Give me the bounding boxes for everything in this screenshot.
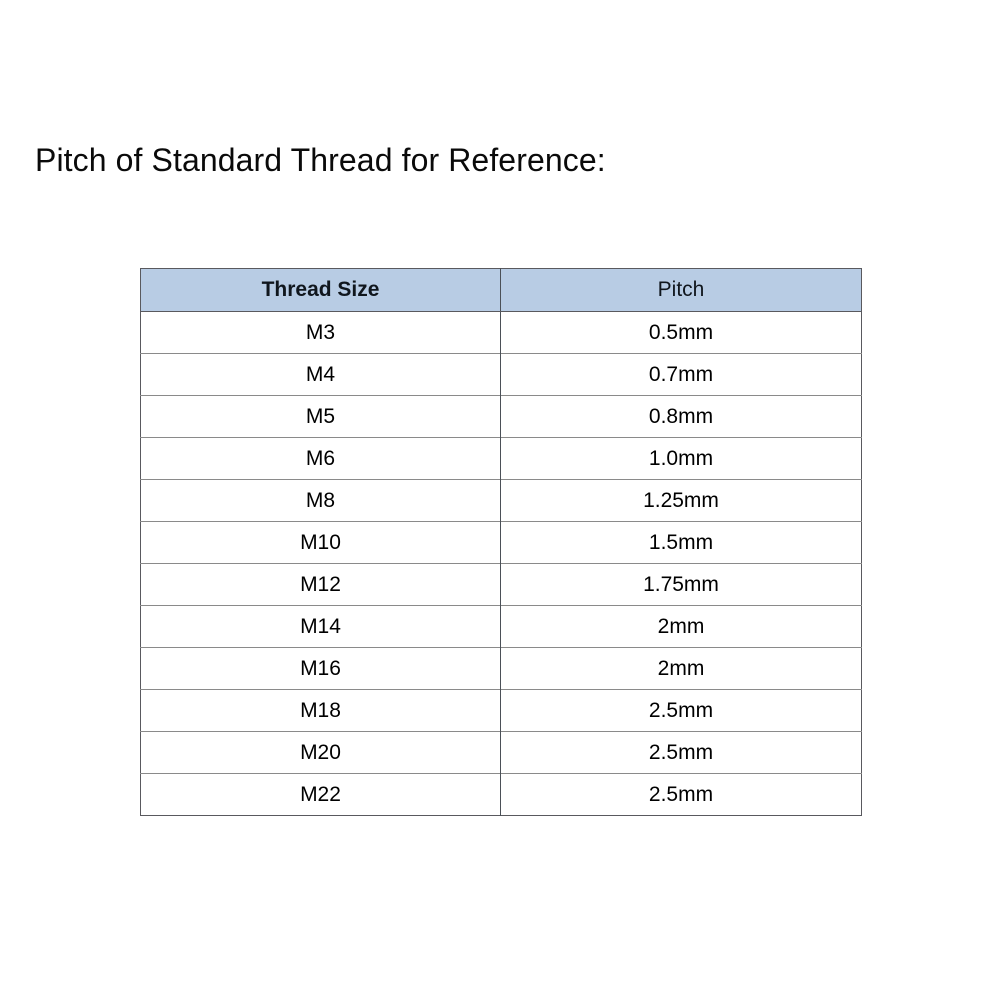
table-row: M202.5mm [141,732,862,774]
table-row: M81.25mm [141,480,862,522]
document-page: Pitch of Standard Thread for Reference: … [0,0,1000,1000]
table-row: M40.7mm [141,354,862,396]
cell-thread-size: M18 [141,690,501,732]
cell-pitch: 2.5mm [501,690,862,732]
cell-pitch: 1.0mm [501,438,862,480]
column-header-pitch: Pitch [501,269,862,312]
table-row: M50.8mm [141,396,862,438]
cell-thread-size: M4 [141,354,501,396]
cell-thread-size: M6 [141,438,501,480]
cell-pitch: 0.7mm [501,354,862,396]
cell-pitch: 2.5mm [501,732,862,774]
table-header: Thread Size Pitch [141,269,862,312]
cell-pitch: 2mm [501,606,862,648]
cell-pitch: 0.5mm [501,312,862,354]
cell-pitch: 2mm [501,648,862,690]
table-row: M121.75mm [141,564,862,606]
cell-thread-size: M16 [141,648,501,690]
cell-thread-size: M3 [141,312,501,354]
column-header-thread-size: Thread Size [141,269,501,312]
table-header-row: Thread Size Pitch [141,269,862,312]
table-row: M101.5mm [141,522,862,564]
cell-pitch: 0.8mm [501,396,862,438]
thread-pitch-table-container: Thread Size Pitch M30.5mmM40.7mmM50.8mmM… [140,268,861,816]
table-row: M162mm [141,648,862,690]
cell-thread-size: M14 [141,606,501,648]
page-title: Pitch of Standard Thread for Reference: [35,140,606,180]
cell-thread-size: M10 [141,522,501,564]
cell-thread-size: M5 [141,396,501,438]
cell-thread-size: M12 [141,564,501,606]
table-row: M222.5mm [141,774,862,816]
thread-pitch-table: Thread Size Pitch M30.5mmM40.7mmM50.8mmM… [140,268,862,816]
cell-thread-size: M8 [141,480,501,522]
cell-thread-size: M20 [141,732,501,774]
cell-pitch: 1.5mm [501,522,862,564]
cell-thread-size: M22 [141,774,501,816]
cell-pitch: 2.5mm [501,774,862,816]
cell-pitch: 1.25mm [501,480,862,522]
table-row: M30.5mm [141,312,862,354]
table-row: M61.0mm [141,438,862,480]
table-row: M182.5mm [141,690,862,732]
table-row: M142mm [141,606,862,648]
cell-pitch: 1.75mm [501,564,862,606]
table-body: M30.5mmM40.7mmM50.8mmM61.0mmM81.25mmM101… [141,312,862,816]
